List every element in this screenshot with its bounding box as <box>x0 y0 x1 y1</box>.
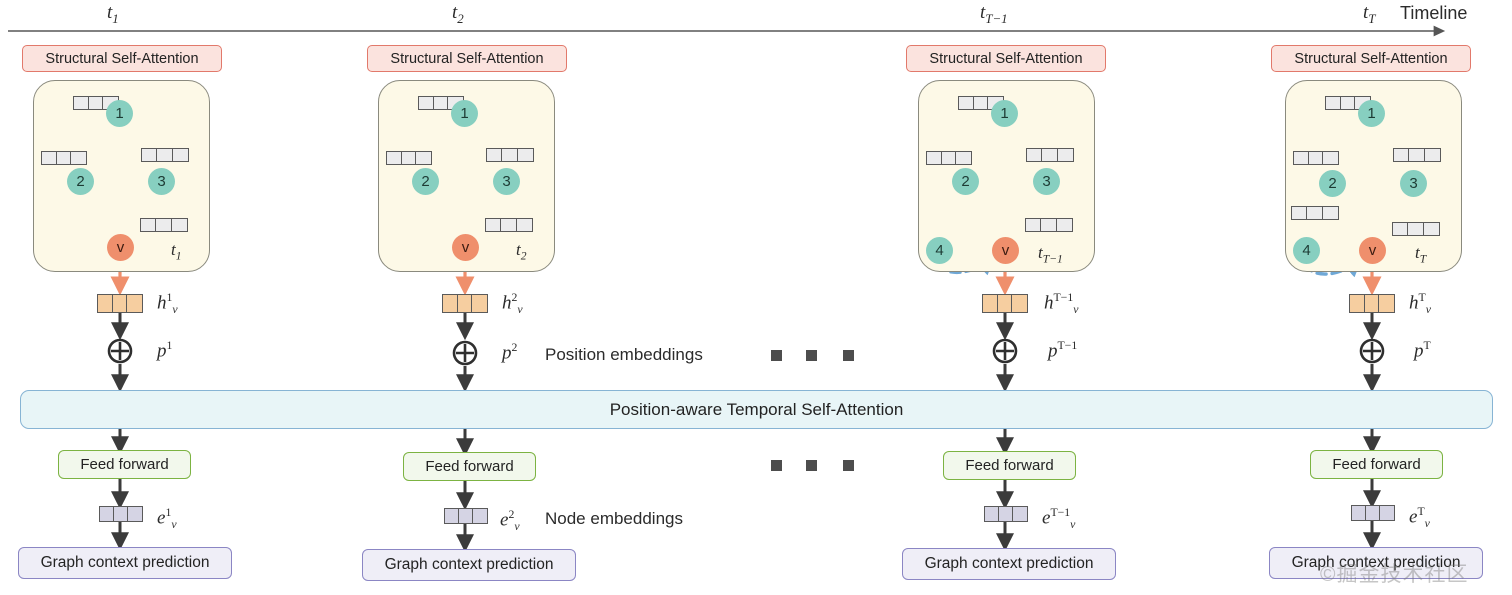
feature-strip-node2-tT1 <box>926 151 972 165</box>
feature-strip-node2-tT <box>1293 151 1339 165</box>
hidden-state-strip-t2 <box>442 294 488 313</box>
position-embedding-label-tT1: pT−1 <box>1048 339 1077 362</box>
diagram-canvas: t1 t2 tT−1 tT Timeline Structural Self-A… <box>0 0 1512 595</box>
node-embedding-strip-tT1 <box>984 506 1028 522</box>
feature-strip-nodev-t1 <box>140 218 188 232</box>
feed-forward-box-tT1[interactable]: Feed forward <box>943 451 1076 480</box>
ellipsis-dot-upper-3 <box>843 350 854 361</box>
feed-forward-box-tT[interactable]: Feed forward <box>1310 450 1443 479</box>
graph-node-v-tT[interactable]: v <box>1359 237 1386 264</box>
node-embedding-strip-t2 <box>444 508 488 524</box>
node-embedding-label-t1: e1v <box>157 506 177 532</box>
graph-time-label-tT1: tT−1 <box>1038 243 1063 265</box>
graph-node-3-tT[interactable]: 3 <box>1400 170 1427 197</box>
ellipsis-dot-lower-1 <box>771 460 782 471</box>
timeline-tick-tT: tT <box>1363 2 1375 27</box>
graph-time-label-tT: tT <box>1415 243 1426 265</box>
feature-strip-node3-tT1 <box>1026 148 1074 162</box>
graph-node-4-tT1[interactable]: 4 <box>926 237 953 264</box>
hidden-state-label-tT: hTv <box>1409 291 1431 317</box>
feature-strip-nodev-tT <box>1392 222 1440 236</box>
feed-forward-box-t1[interactable]: Feed forward <box>58 450 191 479</box>
position-embedding-label-t2: p2 <box>502 341 517 364</box>
feature-strip-node4-tT <box>1291 206 1339 220</box>
plus-circle-t2 <box>454 342 476 364</box>
graph-time-label-t1: t1 <box>171 240 182 262</box>
feature-strip-node3-t2 <box>486 148 534 162</box>
feature-strip-node3-tT <box>1393 148 1441 162</box>
hidden-state-strip-t1 <box>97 294 143 313</box>
hidden-state-strip-tT1 <box>982 294 1028 313</box>
timeline-tick-t2: t2 <box>452 2 464 27</box>
graph-context-prediction-box-t2[interactable]: Graph context prediction <box>362 549 576 581</box>
node-embedding-label-tT: eTv <box>1409 505 1430 531</box>
position-embedding-label-t1: p1 <box>157 339 172 362</box>
structural-self-attention-box-tT[interactable]: Structural Self-Attention <box>1271 45 1471 72</box>
graph-node-3-t2[interactable]: 3 <box>493 168 520 195</box>
graph-node-2-t1[interactable]: 2 <box>67 168 94 195</box>
graph-node-1-tT[interactable]: 1 <box>1358 100 1385 127</box>
diagram-vector-layer <box>0 0 1512 595</box>
watermark-text: ©掘金技术社区 <box>1320 558 1468 588</box>
feature-strip-nodev-tT1 <box>1025 218 1073 232</box>
graph-node-1-t2[interactable]: 1 <box>451 100 478 127</box>
graph-node-3-t1[interactable]: 3 <box>148 168 175 195</box>
graph-node-v-tT1[interactable]: v <box>992 237 1019 264</box>
structural-self-attention-box-t1[interactable]: Structural Self-Attention <box>22 45 222 72</box>
ellipsis-dot-lower-2 <box>806 460 817 471</box>
feature-strip-node3-t1 <box>141 148 189 162</box>
graph-node-v-t2[interactable]: v <box>452 234 479 261</box>
graph-node-2-tT[interactable]: 2 <box>1319 170 1346 197</box>
node-embedding-label-tT1: eT−1v <box>1042 506 1075 532</box>
temporal-self-attention-block[interactable]: Position-aware Temporal Self-Attention <box>20 390 1493 429</box>
plus-circle-tT1 <box>994 340 1016 362</box>
position-embedding-label-tT: pT <box>1414 339 1431 362</box>
position-embeddings-annotation: Position embeddings <box>545 345 703 365</box>
graph-time-label-t2: t2 <box>516 240 527 262</box>
hidden-state-label-tT1: hT−1v <box>1044 291 1078 317</box>
graph-node-3-tT1[interactable]: 3 <box>1033 168 1060 195</box>
node-embedding-strip-tT <box>1351 505 1395 521</box>
graph-context-prediction-box-tT1[interactable]: Graph context prediction <box>902 548 1116 580</box>
ellipsis-dot-upper-1 <box>771 350 782 361</box>
graph-node-2-tT1[interactable]: 2 <box>952 168 979 195</box>
feature-strip-node2-t1 <box>41 151 87 165</box>
hidden-state-label-t1: h1v <box>157 291 178 317</box>
structural-self-attention-box-t2[interactable]: Structural Self-Attention <box>367 45 567 72</box>
timeline-tick-t1: t1 <box>107 2 119 27</box>
graph-node-4-tT[interactable]: 4 <box>1293 237 1320 264</box>
feature-strip-nodev-t2 <box>485 218 533 232</box>
graph-node-2-t2[interactable]: 2 <box>412 168 439 195</box>
feature-strip-node2-t2 <box>386 151 432 165</box>
node-embeddings-annotation: Node embeddings <box>545 509 683 529</box>
graph-node-1-t1[interactable]: 1 <box>106 100 133 127</box>
node-embedding-strip-t1 <box>99 506 143 522</box>
plus-circle-t1 <box>109 340 131 362</box>
ellipsis-dot-upper-2 <box>806 350 817 361</box>
graph-node-v-t1[interactable]: v <box>107 234 134 261</box>
ellipsis-dot-lower-3 <box>843 460 854 471</box>
node-embedding-label-t2: e2v <box>500 508 520 534</box>
graph-node-1-tT1[interactable]: 1 <box>991 100 1018 127</box>
timeline-tick-tT1: tT−1 <box>980 2 1008 27</box>
hidden-state-label-t2: h2v <box>502 291 523 317</box>
timeline-axis-label: Timeline <box>1400 3 1467 24</box>
hidden-state-strip-tT <box>1349 294 1395 313</box>
structural-self-attention-box-tT1[interactable]: Structural Self-Attention <box>906 45 1106 72</box>
feed-forward-box-t2[interactable]: Feed forward <box>403 452 536 481</box>
graph-context-prediction-box-t1[interactable]: Graph context prediction <box>18 547 232 579</box>
plus-circle-tT <box>1361 340 1383 362</box>
